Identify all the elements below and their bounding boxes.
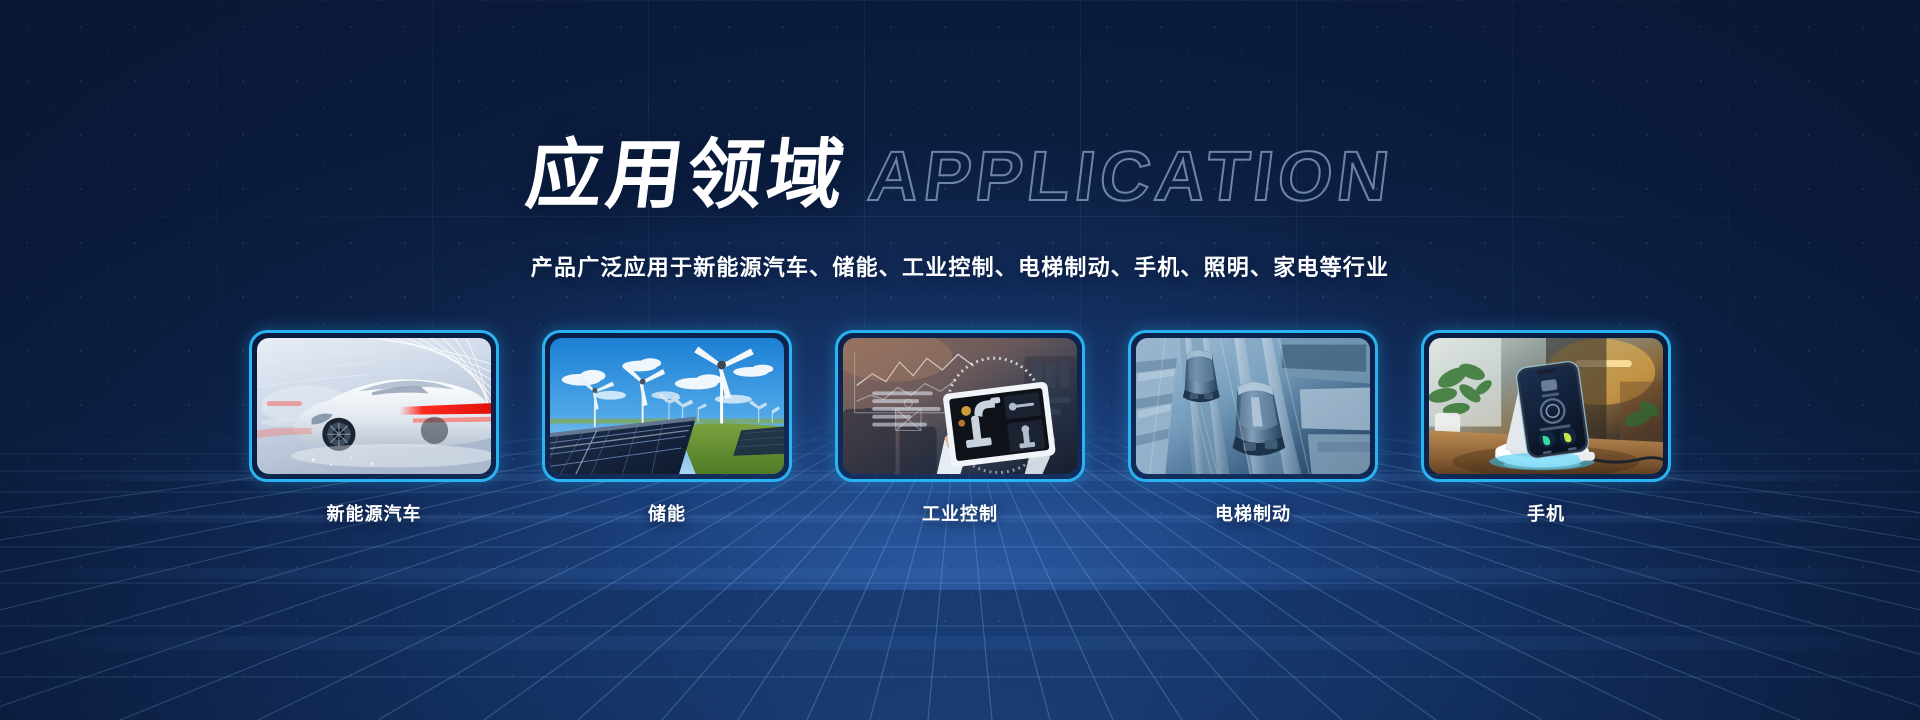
title-row: 应用领域 APPLICATION [527, 128, 1393, 224]
application-card[interactable]: 新能源汽车 [249, 330, 499, 526]
application-banner: 应用领域 APPLICATION 产品广泛应用于新能源汽车、储能、工业控制、电梯… [0, 0, 1920, 720]
solar-wind-farm-photo [550, 338, 784, 474]
page-title-cn: 应用领域 [522, 138, 851, 214]
card-frame [835, 330, 1085, 482]
glass-elevator-shaft-photo [1136, 338, 1370, 474]
application-card-list: 新能源汽车 [249, 330, 1671, 526]
application-card[interactable]: 工业控制 [835, 330, 1085, 526]
electric-sports-car-photo [257, 338, 491, 474]
card-label: 工业控制 [922, 500, 998, 526]
card-frame [542, 330, 792, 482]
card-label: 储能 [648, 500, 686, 526]
card-frame [1128, 330, 1378, 482]
page-subtitle: 产品广泛应用于新能源汽车、储能、工业控制、电梯制动、手机、照明、家电等行业 [531, 250, 1389, 282]
card-label: 电梯制动 [1215, 500, 1291, 526]
application-card[interactable]: 储能 [542, 330, 792, 526]
application-card[interactable]: 手机 [1421, 330, 1671, 526]
page-title-en: APPLICATION [865, 141, 1398, 211]
application-card[interactable]: 电梯制动 [1128, 330, 1378, 526]
industrial-automation-tablet-photo [843, 338, 1077, 474]
banner-content: 应用领域 APPLICATION 产品广泛应用于新能源汽车、储能、工业控制、电梯… [0, 0, 1920, 720]
card-label: 手机 [1527, 500, 1565, 526]
card-frame [249, 330, 499, 482]
card-label: 新能源汽车 [327, 500, 422, 526]
phone-wireless-charger-photo [1429, 338, 1663, 474]
card-frame [1421, 330, 1671, 482]
